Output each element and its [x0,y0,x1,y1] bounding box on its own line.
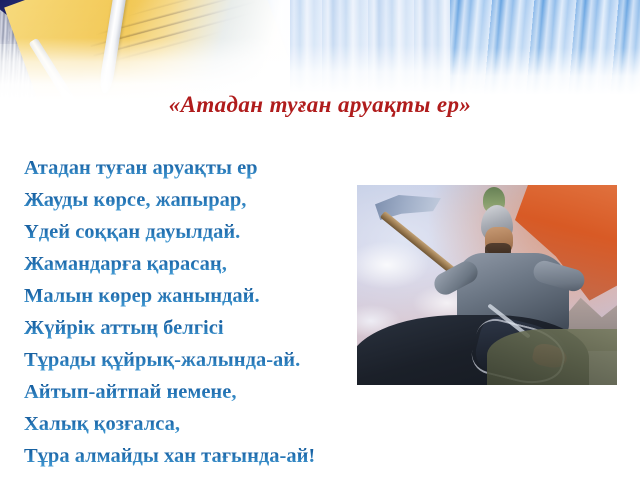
header-banner [0,0,640,100]
poem-line: Жауды көрсе, жапырар, [24,184,354,216]
poem-line: Жүйрік аттың белгісі [24,312,354,344]
poem-line: Халық қозғалса, [24,408,354,440]
slide-canvas: «Атадан туған аруақты ер» Атадан туған а… [0,0,640,480]
poem-line: Үдей соққан дауылдай. [24,216,354,248]
banner-fade-bottom [0,0,290,100]
warrior-image [357,185,617,385]
poem-line: Айтып-айтпай немене, [24,376,354,408]
poem-line: Тұрады құйрық-жалында-ай. [24,344,354,376]
banner-notebook-photo [0,0,290,100]
poem-line: Атадан туған аруақты ер [24,152,354,184]
poem-line: Малын көрер жанындай. [24,280,354,312]
slide-title: «Атадан туған аруақты ер» [0,92,640,118]
banner-blue-streaks-right [450,0,640,100]
poem-line: Жамандарға қарасаң, [24,248,354,280]
poem-body: Атадан туған аруақты ер Жауды көрсе, жап… [24,152,354,472]
image-ground [487,329,617,385]
poem-line: Тұра алмайды хан тағында-ай! [24,440,354,472]
